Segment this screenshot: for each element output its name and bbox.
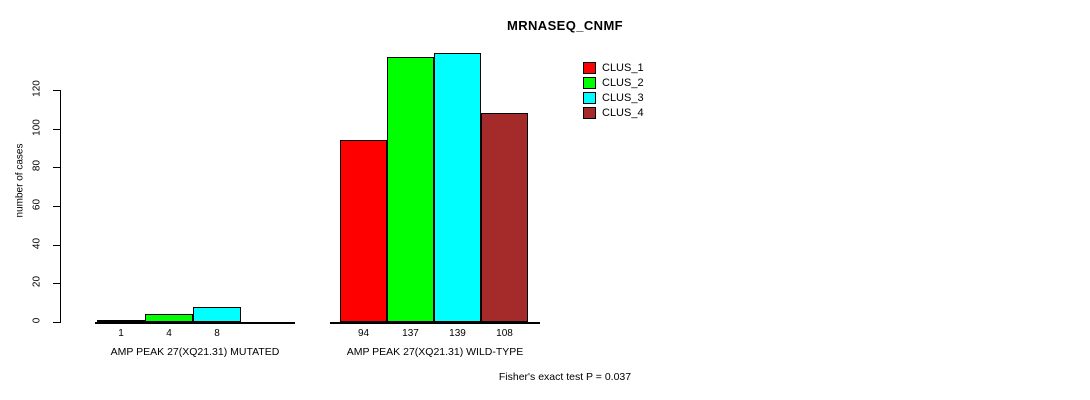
y-axis-line [60,90,61,323]
x-axis-line [95,322,295,324]
legend-item-label: CLUS_2 [602,77,644,89]
bar-clus_1 [97,320,145,322]
legend-item-label: CLUS_4 [602,107,644,119]
y-axis-tick-label: 20 [32,267,43,297]
y-axis-tick-label: 120 [32,74,43,104]
y-axis-tick [53,283,60,284]
bar-value-label: 108 [481,328,528,339]
y-axis-tick [53,322,60,323]
bar-clus_2 [145,314,193,322]
group-axis-title: AMP PEAK 27(XQ21.31) WILD-TYPE [270,346,600,358]
bar-value-label: 8 [193,328,241,339]
chart-title-text: MRNASEQ_CNMF [507,18,623,33]
legend-item: CLUS_2 [583,75,644,90]
y-axis-tick-label: 100 [32,112,43,142]
bar-value-label: 1 [97,328,145,339]
y-axis-tick [53,206,60,207]
bar-clus_2 [387,57,434,322]
y-axis-tick-label: 0 [32,306,43,336]
legend-swatch-icon [583,92,596,104]
legend-swatch-icon [583,62,596,74]
bar-clus_1 [340,140,387,322]
page-title: MRNASEQ_CNMF [0,18,1090,33]
bar-value-label: 4 [145,328,193,339]
y-axis-tick-label: 80 [32,151,43,181]
y-axis-tick [53,129,60,130]
legend-item-label: CLUS_3 [602,92,644,104]
legend-item: CLUS_4 [583,105,644,120]
legend-swatch-icon [583,77,596,89]
statistical-annotation: Fisher's exact test P = 0.037 [0,371,1090,383]
bar-clus_4 [481,113,528,322]
legend-item: CLUS_3 [583,90,644,105]
y-axis-tick [53,167,60,168]
footer-note-text: Fisher's exact test P = 0.037 [499,371,631,383]
bar-value-label: 137 [387,328,434,339]
bar-clus_3 [193,307,241,322]
bar-value-label: 139 [434,328,481,339]
y-axis-tick-label: 60 [32,190,43,220]
legend-item-label: CLUS_1 [602,62,644,74]
x-axis-line [330,322,540,324]
y-axis-tick [53,245,60,246]
legend: CLUS_1CLUS_2CLUS_3CLUS_4 [583,60,644,120]
bar-value-label: 94 [340,328,387,339]
bar-clus_3 [434,53,481,322]
chart-canvas: MRNASEQ_CNMF number of cases 02040608010… [0,0,1090,400]
y-axis-tick-label: 40 [32,228,43,258]
y-axis-tick [53,90,60,91]
legend-item: CLUS_1 [583,60,644,75]
legend-swatch-icon [583,107,596,119]
y-axis-title: number of cases [15,111,26,251]
